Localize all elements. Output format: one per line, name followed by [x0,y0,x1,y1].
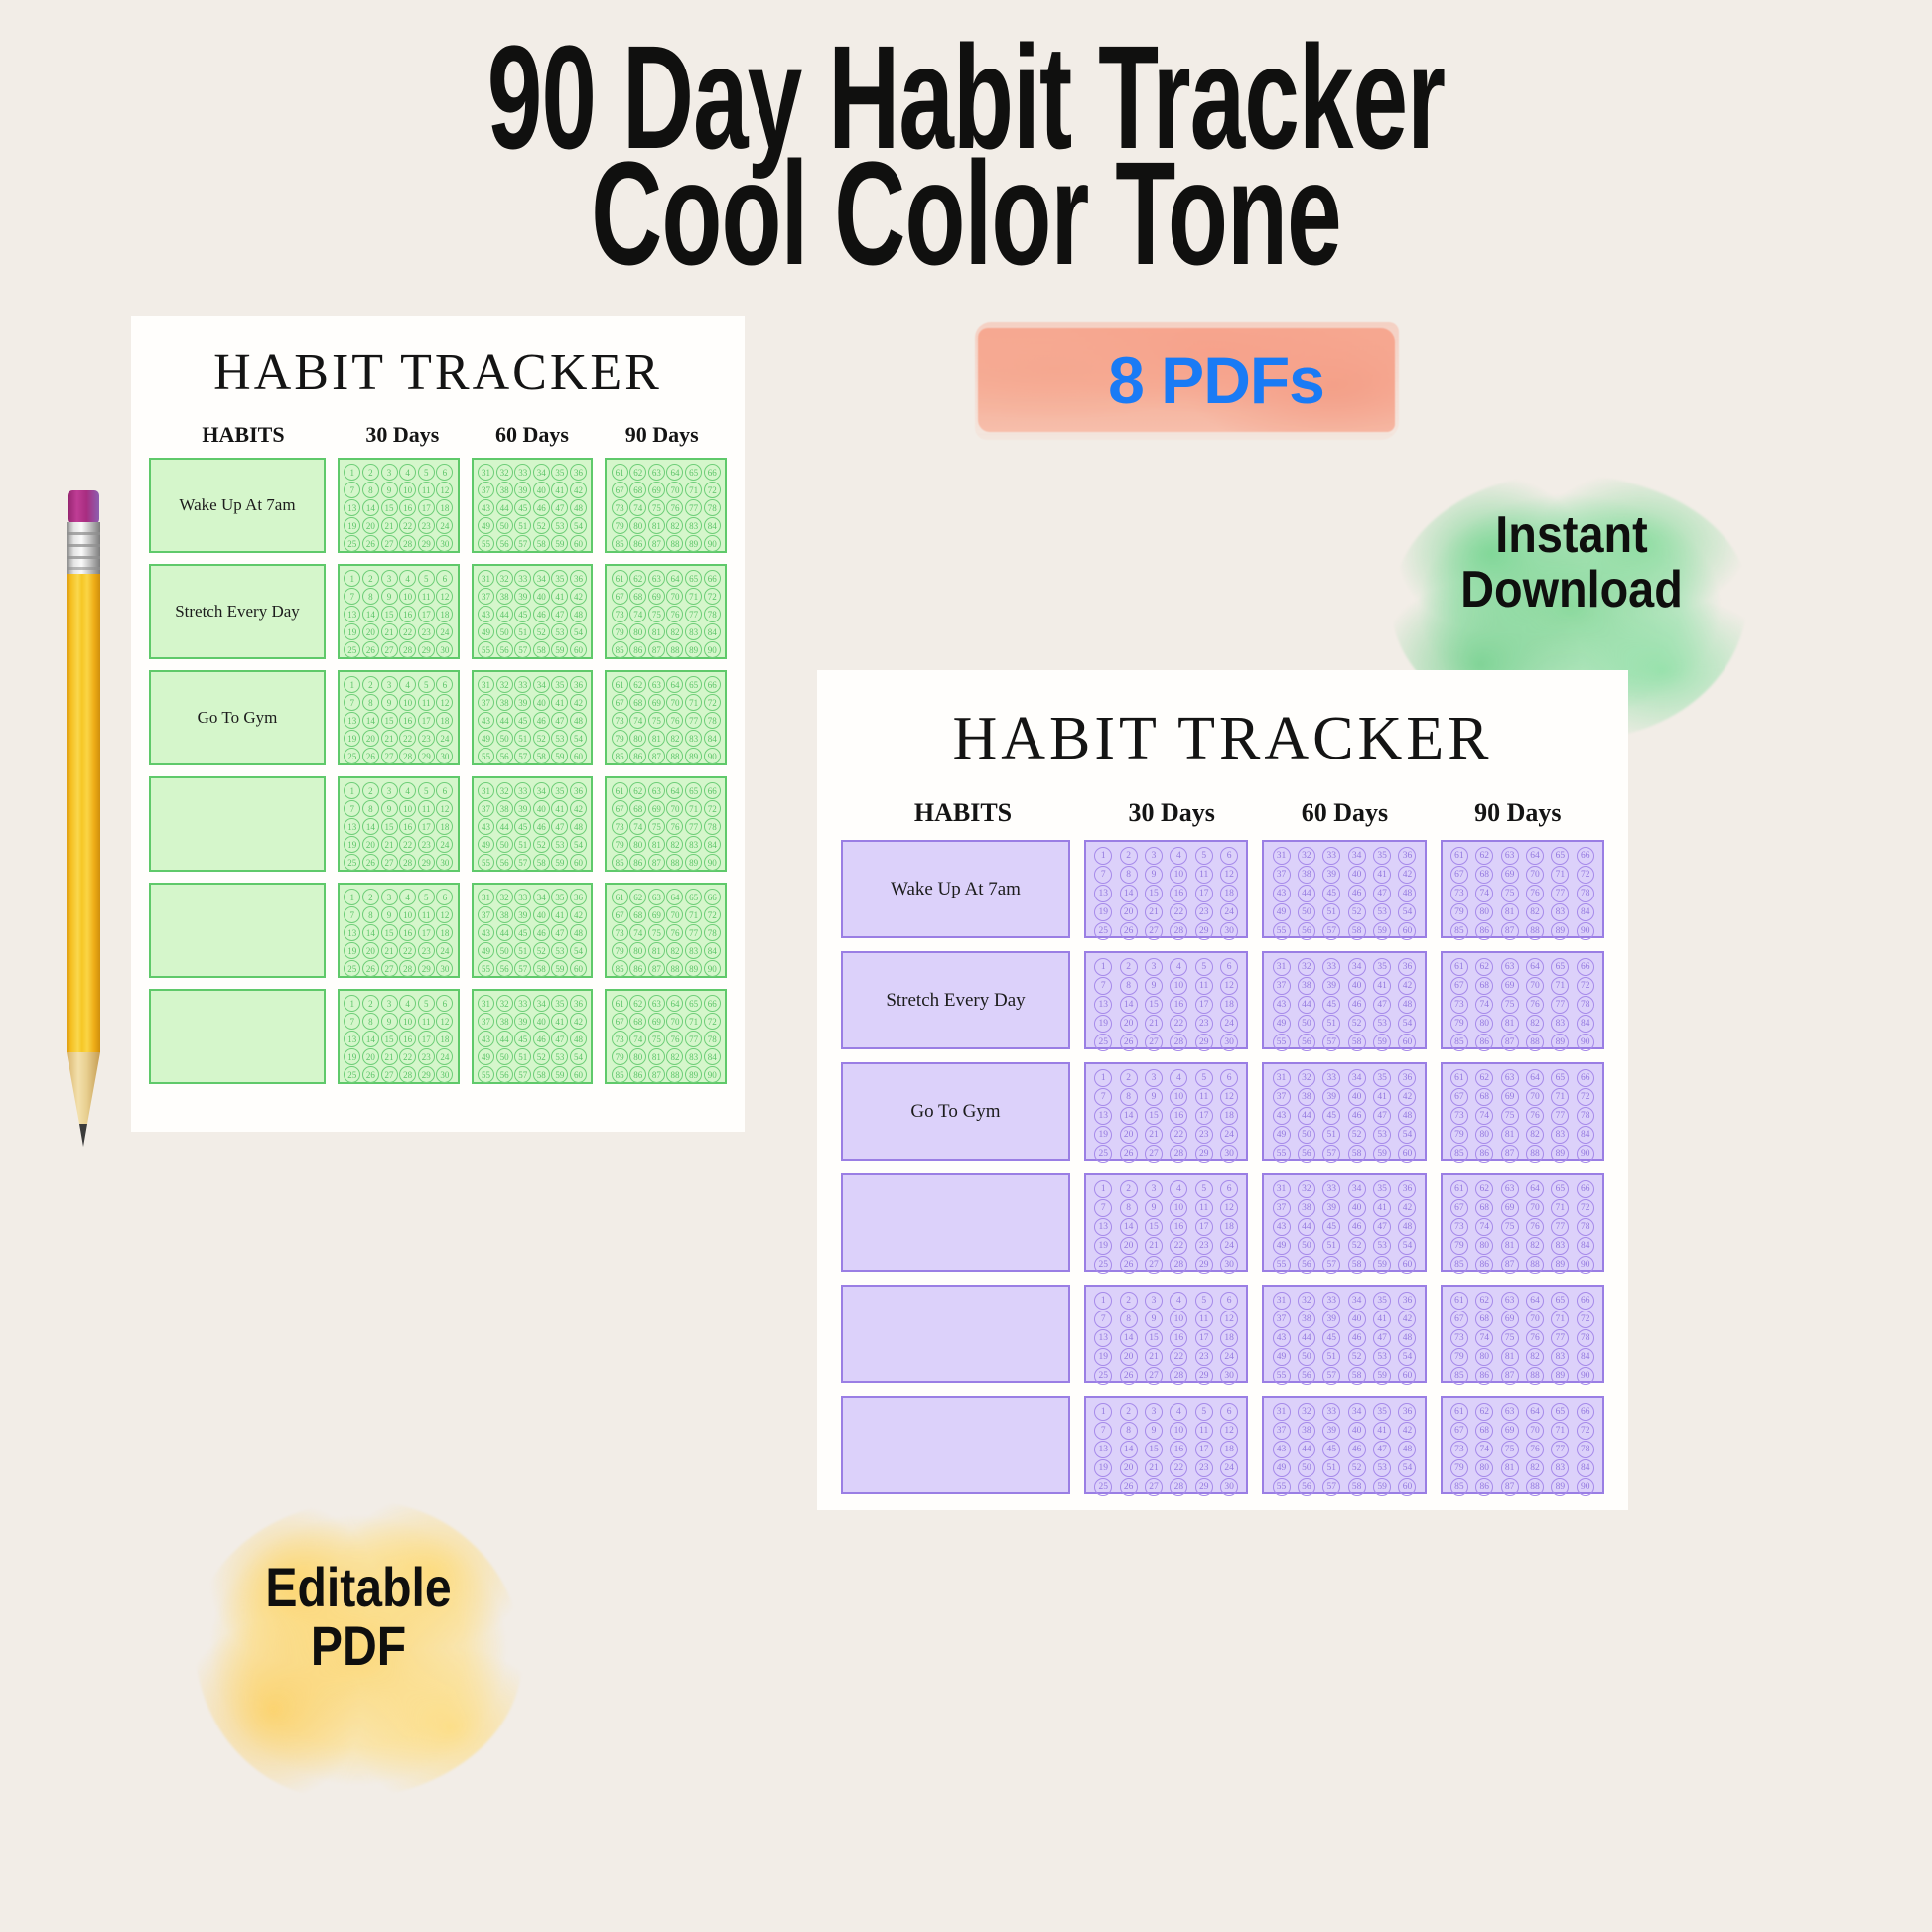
day-dot[interactable]: 63 [648,464,665,481]
day-dot[interactable]: 53 [551,836,568,853]
day-dot[interactable]: 6 [1220,958,1238,976]
day-dot[interactable]: 15 [381,606,398,622]
day-dot[interactable]: 24 [436,517,453,534]
day-dot[interactable]: 47 [1373,1218,1391,1236]
day-dot[interactable]: 56 [496,535,513,552]
day-dot[interactable]: 81 [1501,903,1519,921]
day-dot[interactable]: 61 [1450,847,1468,865]
day-dot[interactable]: 84 [704,517,721,534]
day-dot[interactable]: 52 [533,623,550,640]
day-dot[interactable]: 20 [362,836,379,853]
day-dot[interactable]: 83 [685,517,702,534]
day-dot[interactable]: 13 [344,818,360,835]
day-dot[interactable]: 53 [1373,1348,1391,1366]
day-dot[interactable]: 88 [1526,1367,1544,1385]
day-dot[interactable]: 5 [418,889,435,905]
day-dot[interactable]: 12 [436,1013,453,1030]
day-dot[interactable]: 32 [1298,847,1315,865]
day-dot[interactable]: 30 [436,960,453,977]
day-dot[interactable]: 21 [1145,1126,1163,1144]
day-dot[interactable]: 1 [344,889,360,905]
day-dot[interactable]: 7 [1094,1088,1112,1106]
day-dot[interactable]: 37 [478,482,494,498]
day-dot[interactable]: 66 [1577,847,1594,865]
day-dot[interactable]: 35 [551,676,568,693]
day-dot[interactable]: 8 [362,694,379,711]
habit-label-cell[interactable] [149,989,326,1084]
day-dot[interactable]: 5 [1195,847,1213,865]
day-dot[interactable]: 50 [496,623,513,640]
day-dot[interactable]: 79 [612,836,628,853]
day-dot[interactable]: 68 [1475,1422,1493,1440]
day-dot[interactable]: 58 [533,748,550,764]
day-dot[interactable]: 52 [1348,1237,1366,1255]
day-dot[interactable]: 51 [514,836,531,853]
day-dot[interactable]: 21 [381,517,398,534]
day-dot[interactable]: 26 [1120,1145,1138,1163]
day-dot[interactable]: 66 [1577,1403,1594,1421]
day-dot[interactable]: 46 [533,499,550,516]
day-dot[interactable]: 66 [704,995,721,1012]
day-dot[interactable]: 60 [570,854,587,871]
day-dot[interactable]: 7 [344,588,360,605]
day-dot[interactable]: 46 [1348,1441,1366,1458]
day-dot[interactable]: 61 [612,676,628,693]
day-dot[interactable]: 89 [685,535,702,552]
day-dot[interactable]: 79 [1450,903,1468,921]
day-dot[interactable]: 32 [1298,1069,1315,1087]
day-dot[interactable]: 11 [1195,977,1213,995]
day-dot[interactable]: 71 [1551,866,1569,884]
day-dot[interactable]: 25 [344,960,360,977]
day-dot[interactable]: 76 [666,1031,683,1047]
day-dot[interactable]: 71 [1551,1311,1569,1328]
day-dot[interactable]: 6 [1220,1180,1238,1198]
day-dot[interactable]: 86 [629,960,646,977]
day-dot[interactable]: 29 [1195,1145,1213,1163]
day-dot[interactable]: 44 [496,924,513,941]
day-dot[interactable]: 87 [1501,1478,1519,1496]
day-dot[interactable]: 54 [1398,1126,1416,1144]
day-dot[interactable]: 72 [1577,1199,1594,1217]
day-dot[interactable]: 39 [1322,1422,1340,1440]
day-dot[interactable]: 55 [478,641,494,658]
day-dot[interactable]: 10 [1170,1199,1187,1217]
day-dot[interactable]: 72 [704,1013,721,1030]
day-dot[interactable]: 12 [436,694,453,711]
day-dot[interactable]: 42 [570,1013,587,1030]
habit-label-cell[interactable] [841,1285,1070,1383]
day-dot[interactable]: 90 [704,854,721,871]
day-dot[interactable]: 74 [1475,1441,1493,1458]
day-dot[interactable]: 21 [381,730,398,747]
day-dot[interactable]: 3 [1145,847,1163,865]
day-dot[interactable]: 73 [612,924,628,941]
day-dot[interactable]: 42 [570,694,587,711]
day-dot[interactable]: 36 [1398,1069,1416,1087]
day-dot[interactable]: 36 [1398,847,1416,865]
day-dot[interactable]: 77 [685,712,702,729]
day-dot[interactable]: 19 [1094,1015,1112,1033]
day-dot[interactable]: 35 [551,995,568,1012]
day-dot[interactable]: 3 [1145,1069,1163,1087]
day-dot[interactable]: 73 [612,818,628,835]
day-dot[interactable]: 28 [1170,1145,1187,1163]
day-dot[interactable]: 2 [1120,1292,1138,1310]
day-dot[interactable]: 34 [533,782,550,799]
day-dot[interactable]: 87 [1501,1256,1519,1274]
day-dot[interactable]: 33 [1322,1403,1340,1421]
day-dot[interactable]: 34 [1348,1069,1366,1087]
day-dot[interactable]: 11 [1195,1199,1213,1217]
day-dot[interactable]: 17 [418,606,435,622]
day-dot[interactable]: 15 [1145,885,1163,902]
day-dot[interactable]: 55 [478,960,494,977]
day-dot[interactable]: 51 [1322,1348,1340,1366]
day-dot[interactable]: 37 [478,800,494,817]
day-dot[interactable]: 66 [704,782,721,799]
day-dot[interactable]: 74 [629,712,646,729]
day-dot[interactable]: 69 [1501,1199,1519,1217]
day-dot[interactable]: 57 [1322,1145,1340,1163]
day-dot[interactable]: 89 [685,748,702,764]
day-dot[interactable]: 5 [418,782,435,799]
day-dot[interactable]: 64 [1526,1292,1544,1310]
day-dot[interactable]: 9 [1145,1422,1163,1440]
day-dot[interactable]: 90 [1577,1478,1594,1496]
day-dot[interactable]: 83 [1551,1237,1569,1255]
day-dot[interactable]: 66 [704,676,721,693]
day-dot[interactable]: 39 [1322,1199,1340,1217]
day-dot[interactable]: 29 [1195,1478,1213,1496]
day-dot[interactable]: 57 [514,641,531,658]
day-dot[interactable]: 35 [551,889,568,905]
habit-label-cell[interactable] [149,883,326,978]
day-dot[interactable]: 18 [436,818,453,835]
day-dot[interactable]: 8 [1120,977,1138,995]
day-dot[interactable]: 18 [1220,996,1238,1014]
day-dot[interactable]: 76 [1526,1441,1544,1458]
day-dot[interactable]: 45 [1322,885,1340,902]
day-dot[interactable]: 62 [1475,958,1493,976]
day-dot[interactable]: 48 [1398,996,1416,1014]
day-dot[interactable]: 70 [1526,1422,1544,1440]
day-dot[interactable]: 53 [1373,1015,1391,1033]
day-dot[interactable]: 12 [1220,1088,1238,1106]
day-dot[interactable]: 51 [514,1048,531,1065]
day-dot[interactable]: 18 [1220,1107,1238,1125]
day-dot[interactable]: 86 [1475,922,1493,940]
day-dot[interactable]: 83 [1551,1348,1569,1366]
day-dot[interactable]: 32 [1298,1403,1315,1421]
day-dot[interactable]: 80 [1475,1459,1493,1477]
day-dot[interactable]: 64 [666,676,683,693]
day-dot[interactable]: 29 [418,641,435,658]
day-dot[interactable]: 84 [704,623,721,640]
day-dot[interactable]: 30 [1220,1145,1238,1163]
day-dot[interactable]: 18 [1220,1329,1238,1347]
day-dot[interactable]: 67 [1450,1422,1468,1440]
day-dot[interactable]: 38 [496,588,513,605]
day-dot[interactable]: 47 [1373,1441,1391,1458]
day-dot[interactable]: 60 [570,1066,587,1083]
day-dot[interactable]: 85 [612,535,628,552]
day-dot[interactable]: 14 [1120,885,1138,902]
day-dot[interactable]: 29 [418,1066,435,1083]
day-dot[interactable]: 17 [418,924,435,941]
day-dot[interactable]: 7 [1094,977,1112,995]
day-dot[interactable]: 81 [648,942,665,959]
day-dot[interactable]: 1 [344,782,360,799]
day-dot[interactable]: 82 [1526,903,1544,921]
day-dot[interactable]: 44 [496,499,513,516]
day-dot[interactable]: 27 [1145,1256,1163,1274]
day-dot[interactable]: 70 [666,800,683,817]
day-dot[interactable]: 4 [399,676,416,693]
day-dot[interactable]: 31 [478,464,494,481]
day-dot[interactable]: 84 [1577,1126,1594,1144]
day-dot[interactable]: 55 [478,535,494,552]
day-dot[interactable]: 53 [1373,903,1391,921]
day-dot[interactable]: 39 [514,906,531,923]
day-dot[interactable]: 3 [381,676,398,693]
day-dot[interactable]: 21 [381,836,398,853]
day-dot[interactable]: 3 [381,464,398,481]
day-dot[interactable]: 58 [533,641,550,658]
day-dot[interactable]: 41 [1373,1422,1391,1440]
day-dot[interactable]: 81 [648,730,665,747]
day-dot[interactable]: 59 [1373,1034,1391,1051]
day-dot[interactable]: 58 [1348,1145,1366,1163]
day-dot[interactable]: 7 [344,1013,360,1030]
day-dot[interactable]: 70 [666,1013,683,1030]
day-dot[interactable]: 75 [648,606,665,622]
day-dot[interactable]: 38 [496,1013,513,1030]
day-dot[interactable]: 14 [1120,1107,1138,1125]
day-dot[interactable]: 63 [1501,847,1519,865]
day-dot[interactable]: 83 [1551,1459,1569,1477]
day-dot[interactable]: 54 [570,942,587,959]
day-dot[interactable]: 45 [1322,996,1340,1014]
day-dot[interactable]: 8 [1120,1422,1138,1440]
day-dot[interactable]: 43 [478,712,494,729]
day-dot[interactable]: 38 [496,482,513,498]
day-dot[interactable]: 19 [1094,1348,1112,1366]
day-dot[interactable]: 70 [1526,1311,1544,1328]
day-dot[interactable]: 50 [1298,1015,1315,1033]
day-dot[interactable]: 34 [533,570,550,587]
day-dot[interactable]: 90 [1577,1145,1594,1163]
day-dot[interactable]: 89 [685,960,702,977]
day-dot[interactable]: 6 [1220,847,1238,865]
day-dot[interactable]: 77 [685,606,702,622]
day-dot[interactable]: 61 [1450,958,1468,976]
day-dot[interactable]: 37 [1273,1088,1291,1106]
day-dot[interactable]: 47 [1373,996,1391,1014]
habit-label-cell[interactable]: Go To Gym [149,670,326,765]
day-dot[interactable]: 7 [1094,1311,1112,1328]
day-dot[interactable]: 69 [1501,1311,1519,1328]
day-dot[interactable]: 56 [1298,1478,1315,1496]
day-dot[interactable]: 63 [1501,958,1519,976]
day-dot[interactable]: 71 [685,694,702,711]
day-dot[interactable]: 12 [436,588,453,605]
day-dot[interactable]: 73 [1450,1218,1468,1236]
day-dot[interactable]: 55 [478,748,494,764]
day-dot[interactable]: 44 [1298,1441,1315,1458]
day-dot[interactable]: 65 [685,570,702,587]
day-dot[interactable]: 16 [399,606,416,622]
day-dot[interactable]: 52 [533,1048,550,1065]
day-dot[interactable]: 49 [1273,903,1291,921]
day-dot[interactable]: 82 [666,836,683,853]
day-dot[interactable]: 5 [418,570,435,587]
day-dot[interactable]: 85 [612,641,628,658]
day-dot[interactable]: 27 [381,1066,398,1083]
day-dot[interactable]: 15 [381,712,398,729]
day-dot[interactable]: 86 [629,854,646,871]
day-dot[interactable]: 75 [648,1031,665,1047]
day-dot[interactable]: 54 [1398,1237,1416,1255]
day-dot[interactable]: 53 [1373,1459,1391,1477]
day-dot[interactable]: 76 [666,924,683,941]
day-dot[interactable]: 84 [704,730,721,747]
day-dot[interactable]: 36 [570,570,587,587]
day-dot[interactable]: 62 [629,995,646,1012]
day-dot[interactable]: 20 [362,623,379,640]
day-dot[interactable]: 6 [436,570,453,587]
day-dot[interactable]: 71 [685,1013,702,1030]
day-dot[interactable]: 4 [399,464,416,481]
day-dot[interactable]: 69 [648,482,665,498]
day-dot[interactable]: 4 [399,889,416,905]
day-dot[interactable]: 56 [1298,1145,1315,1163]
day-dot[interactable]: 72 [1577,1422,1594,1440]
day-dot[interactable]: 67 [1450,977,1468,995]
day-dot[interactable]: 7 [344,800,360,817]
day-dot[interactable]: 70 [666,482,683,498]
day-dot[interactable]: 1 [1094,1292,1112,1310]
day-dot[interactable]: 80 [629,517,646,534]
day-dot[interactable]: 40 [533,800,550,817]
day-dot[interactable]: 4 [1170,958,1187,976]
day-dot[interactable]: 16 [1170,1441,1187,1458]
day-dot[interactable]: 18 [1220,1218,1238,1236]
day-dot[interactable]: 34 [1348,1292,1366,1310]
day-dot[interactable]: 65 [685,676,702,693]
day-dot[interactable]: 87 [1501,922,1519,940]
day-dot[interactable]: 71 [685,482,702,498]
day-dot[interactable]: 87 [1501,1145,1519,1163]
day-dot[interactable]: 14 [362,818,379,835]
day-dot[interactable]: 27 [381,535,398,552]
day-dot[interactable]: 16 [1170,1329,1187,1347]
day-dot[interactable]: 73 [612,712,628,729]
day-dot[interactable]: 15 [1145,1329,1163,1347]
day-dot[interactable]: 52 [533,942,550,959]
day-dot[interactable]: 59 [551,1066,568,1083]
day-dot[interactable]: 53 [551,942,568,959]
day-dot[interactable]: 78 [704,499,721,516]
day-dot[interactable]: 32 [496,676,513,693]
day-dot[interactable]: 50 [496,1048,513,1065]
day-dot[interactable]: 20 [1120,1348,1138,1366]
day-dot[interactable]: 28 [1170,922,1187,940]
day-dot[interactable]: 76 [666,712,683,729]
day-dot[interactable]: 69 [1501,1088,1519,1106]
day-dot[interactable]: 43 [478,818,494,835]
day-dot[interactable]: 48 [570,606,587,622]
day-dot[interactable]: 1 [1094,847,1112,865]
day-dot[interactable]: 1 [344,570,360,587]
day-dot[interactable]: 34 [533,676,550,693]
day-dot[interactable]: 66 [704,570,721,587]
day-dot[interactable]: 62 [629,464,646,481]
day-dot[interactable]: 77 [1551,885,1569,902]
day-dot[interactable]: 44 [496,606,513,622]
day-dot[interactable]: 24 [436,1048,453,1065]
day-dot[interactable]: 15 [1145,1218,1163,1236]
day-dot[interactable]: 75 [1501,996,1519,1014]
day-dot[interactable]: 76 [666,818,683,835]
day-dot[interactable]: 79 [612,730,628,747]
day-dot[interactable]: 77 [1551,996,1569,1014]
day-dot[interactable]: 86 [1475,1256,1493,1274]
day-dot[interactable]: 28 [1170,1367,1187,1385]
day-dot[interactable]: 23 [1195,1459,1213,1477]
day-dot[interactable]: 60 [570,960,587,977]
day-dot[interactable]: 88 [666,854,683,871]
day-dot[interactable]: 55 [1273,1478,1291,1496]
day-dot[interactable]: 65 [1551,1292,1569,1310]
day-dot[interactable]: 9 [381,1013,398,1030]
day-dot[interactable]: 25 [344,748,360,764]
day-dot[interactable]: 59 [1373,1256,1391,1274]
day-dot[interactable]: 42 [570,482,587,498]
day-dot[interactable]: 21 [381,623,398,640]
day-dot[interactable]: 81 [648,517,665,534]
day-dot[interactable]: 35 [551,464,568,481]
day-dot[interactable]: 68 [1475,866,1493,884]
day-dot[interactable]: 26 [1120,1034,1138,1051]
day-dot[interactable]: 10 [399,588,416,605]
day-dot[interactable]: 90 [704,641,721,658]
day-dot[interactable]: 5 [418,995,435,1012]
day-dot[interactable]: 49 [478,1048,494,1065]
day-dot[interactable]: 37 [1273,1422,1291,1440]
day-dot[interactable]: 45 [514,1031,531,1047]
day-dot[interactable]: 45 [514,499,531,516]
day-dot[interactable]: 56 [1298,1367,1315,1385]
day-dot[interactable]: 48 [1398,1329,1416,1347]
day-dot[interactable]: 16 [1170,1218,1187,1236]
day-dot[interactable]: 84 [704,836,721,853]
day-dot[interactable]: 62 [1475,1069,1493,1087]
day-dot[interactable]: 31 [1273,847,1291,865]
day-dot[interactable]: 37 [478,906,494,923]
day-dot[interactable]: 12 [1220,1199,1238,1217]
day-dot[interactable]: 27 [1145,1145,1163,1163]
day-dot[interactable]: 34 [1348,958,1366,976]
day-dot[interactable]: 64 [1526,1180,1544,1198]
day-dot[interactable]: 29 [1195,922,1213,940]
day-dot[interactable]: 54 [570,623,587,640]
day-dot[interactable]: 4 [399,570,416,587]
day-dot[interactable]: 62 [629,570,646,587]
day-dot[interactable]: 74 [629,606,646,622]
day-dot[interactable]: 58 [1348,1256,1366,1274]
day-dot[interactable]: 90 [1577,922,1594,940]
